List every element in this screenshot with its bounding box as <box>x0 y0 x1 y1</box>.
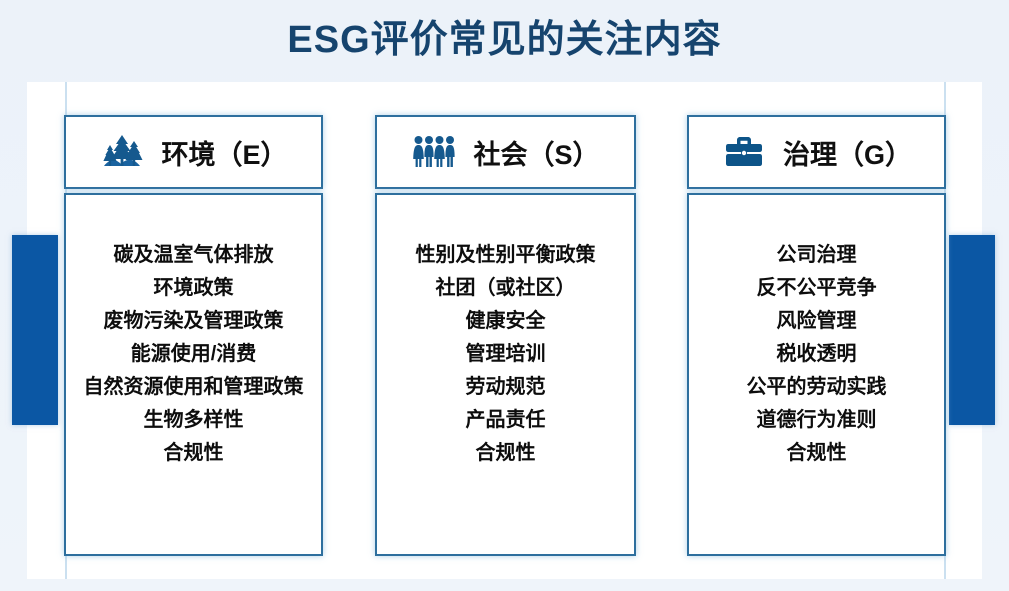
category-item-list-environment: 碳及温室气体排放 环境政策 废物污染及管理政策 能源使用/消费 自然资源使用和管… <box>66 239 321 470</box>
list-item: 废物污染及管理政策 <box>66 305 321 338</box>
accent-bar-left <box>12 235 58 425</box>
list-item: 管理培训 <box>377 338 634 371</box>
list-item: 产品责任 <box>377 404 634 437</box>
category-body-governance: 公司治理 反不公平竞争 风险管理 税收透明 公平的劳动实践 道德行为准则 合规性 <box>687 193 946 556</box>
list-item: 自然资源使用和管理政策 <box>66 371 321 404</box>
list-item: 公平的劳动实践 <box>689 371 944 404</box>
list-item: 碳及温室气体排放 <box>66 239 321 272</box>
category-title-governance: 治理（G） <box>783 133 912 172</box>
people-group-icon <box>411 132 457 172</box>
category-header-social[interactable]: 社会（S） <box>375 115 636 189</box>
forest-trees-icon <box>99 132 145 172</box>
category-body-social: 性别及性别平衡政策 社团（或社区） 健康安全 管理培训 劳动规范 产品责任 合规… <box>375 193 636 556</box>
category-body-environment: 碳及温室气体排放 环境政策 废物污染及管理政策 能源使用/消费 自然资源使用和管… <box>64 193 323 556</box>
category-title-social: 社会（S） <box>473 133 599 172</box>
briefcase-icon <box>721 132 767 172</box>
category-column-social: 社会（S） 性别及性别平衡政策 社团（或社区） 健康安全 管理培训 劳动规范 产… <box>375 115 636 556</box>
list-item: 健康安全 <box>377 305 634 338</box>
list-item: 合规性 <box>377 437 634 470</box>
list-item: 合规性 <box>689 437 944 470</box>
list-item: 风险管理 <box>689 305 944 338</box>
list-item: 能源使用/消费 <box>66 338 321 371</box>
category-header-environment[interactable]: 环境（E） <box>64 115 323 189</box>
list-item: 社团（或社区） <box>377 272 634 305</box>
list-item: 道德行为准则 <box>689 404 944 437</box>
category-item-list-social: 性别及性别平衡政策 社团（或社区） 健康安全 管理培训 劳动规范 产品责任 合规… <box>377 239 634 470</box>
list-item: 性别及性别平衡政策 <box>377 239 634 272</box>
list-item: 税收透明 <box>689 338 944 371</box>
category-title-environment: 环境（E） <box>161 133 287 172</box>
list-item: 生物多样性 <box>66 404 321 437</box>
accent-bar-right <box>949 235 995 425</box>
list-item: 反不公平竞争 <box>689 272 944 305</box>
category-column-governance: 治理（G） 公司治理 反不公平竞争 风险管理 税收透明 公平的劳动实践 道德行为… <box>687 115 946 556</box>
category-header-governance[interactable]: 治理（G） <box>687 115 946 189</box>
list-item: 劳动规范 <box>377 371 634 404</box>
slide-canvas: ESG评价常见的关注内容 <box>0 0 1009 591</box>
category-item-list-governance: 公司治理 反不公平竞争 风险管理 税收透明 公平的劳动实践 道德行为准则 合规性 <box>689 239 944 470</box>
category-column-environment: 环境（E） 碳及温室气体排放 环境政策 废物污染及管理政策 能源使用/消费 自然… <box>64 115 323 556</box>
list-item: 公司治理 <box>689 239 944 272</box>
page-title: ESG评价常见的关注内容 <box>0 14 1009 66</box>
list-item: 合规性 <box>66 437 321 470</box>
list-item: 环境政策 <box>66 272 321 305</box>
